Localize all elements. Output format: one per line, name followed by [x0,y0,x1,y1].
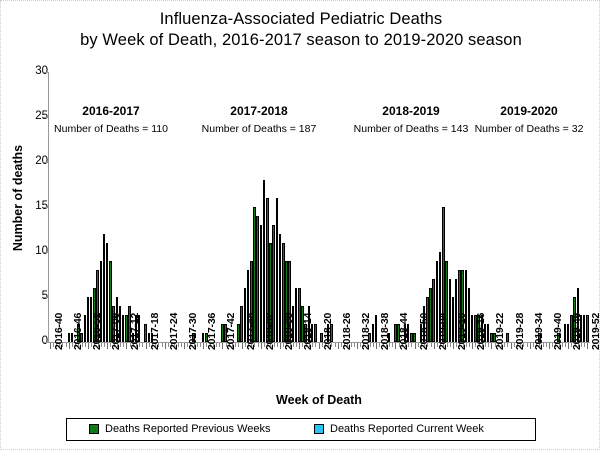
x-tick-mark-minor [162,343,163,347]
x-tick-mark-major [587,343,588,349]
x-tick-mark-major [146,343,147,349]
x-tick-mark-major [184,343,185,349]
x-tick-label: 2018-38 [380,313,391,350]
x-tick-label: 2019-16 [476,313,487,350]
bar-previous-weeks [564,324,566,342]
x-tick-mark-major [549,343,550,349]
x-tick-mark-major [203,343,204,349]
x-tick-mark-major [453,343,454,349]
bar-previous-weeks [506,333,508,342]
x-tick-mark-minor [565,343,566,347]
bar-previous-weeks [68,333,70,342]
bar-previous-weeks [314,324,316,342]
bar-previous-weeks [298,288,300,342]
x-tick-label: 2017-42 [226,313,237,350]
bar-previous-weeks [106,243,108,342]
bar-previous-weeks [202,333,204,342]
x-tick-label: 2017-24 [169,313,180,350]
x-tick-mark-minor [450,343,451,347]
chart-container: Influenza-Associated Pediatric Deaths by… [0,0,600,450]
x-tick-label: 2019-10 [457,313,468,350]
legend-swatch-previous-weeks-icon [89,424,99,434]
x-tick-mark-major [126,343,127,349]
x-tick-mark-major [568,343,569,349]
x-tick-label: 2019-46 [572,313,583,350]
x-tick-label: 2017-48 [246,313,257,350]
season-label-2019-2020: 2019-2020 [439,104,600,118]
bar-current-week [583,315,585,342]
bar-previous-weeks [295,288,297,342]
bar-previous-weeks [413,333,415,342]
x-tick-mark-minor [507,343,508,347]
x-tick-mark-major [222,343,223,349]
bar-previous-weeks [432,279,434,342]
chart-title-line-1: Influenza-Associated Pediatric Deaths [1,9,600,30]
x-tick-mark-major [69,343,70,349]
x-tick-mark-major [280,343,281,349]
x-tick-mark-minor [296,343,297,347]
x-tick-mark-minor [373,343,374,347]
x-tick-mark-minor [219,343,220,347]
x-tick-mark-minor [142,343,143,347]
x-tick-label: 2019-52 [591,313,600,350]
x-tick-mark-minor [469,343,470,347]
season-death-count-2019-2020: Number of Deaths = 32 [439,123,600,135]
x-tick-mark-minor [335,343,336,347]
bar-previous-weeks [487,324,489,342]
x-tick-mark-minor [584,343,585,347]
bar-previous-weeks [452,297,454,342]
x-tick-label: 2016-52 [92,313,103,350]
x-tick-mark-major [376,343,377,349]
x-tick-label: 2018-08 [284,313,295,350]
bar-previous-weeks [122,315,124,342]
x-tick-mark-minor [488,343,489,347]
bar-previous-weeks [586,315,588,342]
bar-previous-weeks [372,324,374,342]
bar-previous-weeks [394,324,396,342]
bar-previous-weeks [567,324,569,342]
x-tick-mark-major [165,343,166,349]
chart-title: Influenza-Associated Pediatric Deaths by… [1,9,600,51]
x-tick-label: 2018-14 [303,313,314,350]
bar-previous-weeks [221,324,223,342]
x-tick-mark-major [434,343,435,349]
x-tick-mark-minor [181,343,182,347]
x-tick-mark-minor [66,343,67,347]
x-tick-label: 2016-46 [73,313,84,350]
chart-title-line-2: by Week of Death, 2016-2017 season to 20… [1,30,600,51]
x-tick-mark-major [50,343,51,349]
x-tick-mark-major [472,343,473,349]
legend-entry-current-week: Deaths Reported Current Week [314,423,484,435]
x-tick-label: 2017-18 [150,313,161,350]
x-tick-mark-minor [315,343,316,347]
x-tick-mark-minor [104,343,105,347]
x-tick-label: 2018-26 [342,313,353,350]
x-tick-mark-minor [85,343,86,347]
x-tick-label: 2019-22 [495,313,506,350]
x-tick-mark-minor [411,343,412,347]
x-tick-mark-major [88,343,89,349]
x-tick-mark-major [530,343,531,349]
x-tick-label: 2018-20 [323,313,334,350]
x-tick-mark-minor [200,343,201,347]
x-tick-mark-minor [392,343,393,347]
x-tick-mark-minor [277,343,278,347]
x-tick-mark-major [511,343,512,349]
x-tick-mark-minor [238,343,239,347]
x-tick-label: 2018-50 [419,313,430,350]
x-tick-mark-minor [123,343,124,347]
x-tick-mark-major [395,343,396,349]
legend-label-current-week: Deaths Reported Current Week [330,423,484,435]
x-tick-label: 2017-36 [207,313,218,350]
x-tick-mark-major [107,343,108,349]
x-axis-title: Week of Death [48,393,590,407]
x-tick-label: 2019-40 [553,313,564,350]
x-tick-label: 2016-40 [54,313,65,350]
x-tick-mark-major [338,343,339,349]
legend-entry-previous-weeks: Deaths Reported Previous Weeks [89,423,271,435]
x-tick-mark-major [491,343,492,349]
bar-previous-weeks [490,333,492,342]
x-tick-mark-major [261,343,262,349]
x-tick-mark-minor [546,343,547,347]
bar-previous-weeks [279,234,281,342]
x-tick-mark-major [415,343,416,349]
legend-swatch-current-week-icon [314,424,324,434]
bar-previous-weeks [260,225,262,342]
x-tick-label: 2018-32 [361,313,372,350]
x-tick-label: 2017-12 [130,313,141,350]
x-tick-mark-minor [431,343,432,347]
bar-previous-weeks [103,234,105,342]
x-tick-label: 2019-34 [534,313,545,350]
x-tick-label: 2019-28 [515,313,526,350]
x-tick-mark-minor [527,343,528,347]
x-tick-label: 2018-02 [265,313,276,350]
x-axis-tick-labels: 2016-402016-462016-522017-062017-122017-… [48,350,590,392]
x-tick-mark-major [319,343,320,349]
bar-previous-weeks [87,297,89,342]
bar-previous-weeks [375,315,377,342]
x-tick-mark-major [242,343,243,349]
bar-previous-weeks [240,306,242,342]
x-tick-label: 2017-06 [111,313,122,350]
bar-previous-weeks [144,324,146,342]
y-axis-title: Number of deaths [11,88,25,308]
x-tick-mark-minor [258,343,259,347]
x-tick-mark-major [357,343,358,349]
x-tick-label: 2017-30 [188,313,199,350]
legend-label-previous-weeks: Deaths Reported Previous Weeks [105,423,271,435]
bar-previous-weeks [471,315,473,342]
x-tick-mark-minor [354,343,355,347]
x-tick-mark-major [299,343,300,349]
x-tick-label: 2018-44 [399,313,410,350]
bar-previous-weeks [468,288,470,342]
legend: Deaths Reported Previous Weeks Deaths Re… [66,418,536,441]
x-tick-label: 2019-04 [438,313,449,350]
bar-previous-weeks [410,333,412,342]
bar-previous-weeks [125,315,127,342]
bar-previous-weeks [237,324,239,342]
